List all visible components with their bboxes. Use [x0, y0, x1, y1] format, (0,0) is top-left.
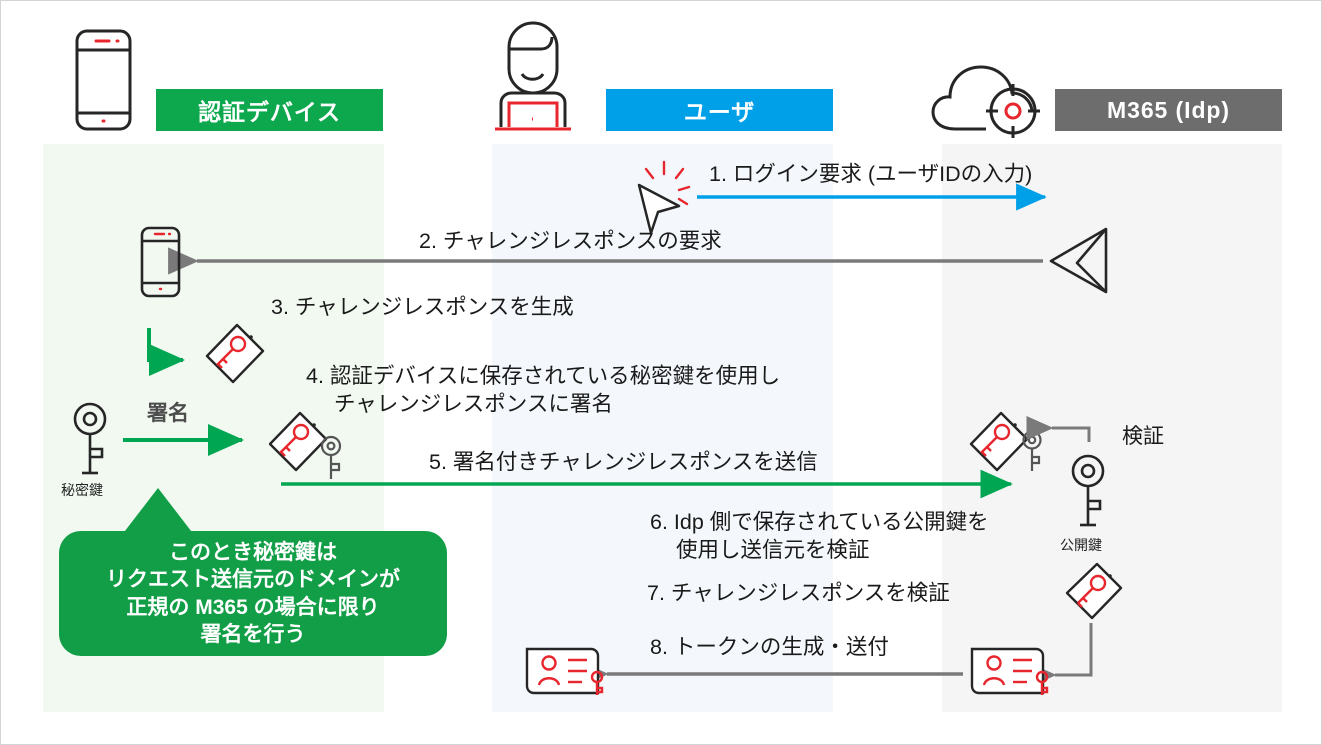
step-8-label: 8. トークンの生成・送付	[650, 633, 889, 661]
step-7-label: 7. チャレンジレスポンスを検証	[647, 579, 950, 607]
lane-badge-user: ユーザ	[606, 89, 833, 131]
lane-badge-idp: M365 (Idp)	[1055, 89, 1282, 131]
smartphone-icon-header	[77, 31, 130, 129]
step-4-label-line1: 4. 認証デバイスに保存されている秘密鍵を使用し	[306, 362, 780, 390]
diagram-canvas: 認証デバイス ユーザ M365 (Idp)	[0, 0, 1322, 745]
callout-line-1: このとき秘密鍵は	[106, 539, 400, 566]
step-5-label: 5. 署名付きチャレンジレスポンスを送信	[429, 448, 818, 476]
callout-line-4: 署名を行う	[106, 621, 400, 648]
callout-line-3: 正規の M365 の場合に限り	[106, 594, 400, 621]
step-6-label-line2: 使用し送信元を検証	[676, 536, 870, 564]
smartphone-icon-header-accents	[96, 41, 118, 121]
callout-box: このとき秘密鍵は リクエスト送信元のドメインが 正規の M365 の場合に限り …	[59, 531, 447, 656]
step-1-label: 1. ログイン要求 (ユーザIDの入力)	[709, 160, 1032, 188]
verify-label-top: 検証	[1122, 423, 1164, 451]
sign-label: 署名	[147, 400, 189, 428]
target-center-icon	[1006, 104, 1020, 118]
cloud-target-icon-header	[933, 67, 1040, 138]
step-2-label: 2. チャレンジレスポンスの要求	[419, 227, 722, 255]
laptop-icon-screen	[495, 103, 571, 129]
step-6-label-line1: 6. Idp 側で保存されている公開鍵を	[650, 508, 989, 536]
step-3-label: 3. チャレンジレスポンスを生成	[271, 293, 574, 321]
step-4-label-line2: チャレンジレスポンスに署名	[334, 390, 613, 418]
person-laptop-icon-header	[501, 23, 565, 127]
callout-line-2: リクエスト送信元のドメインが	[106, 566, 400, 593]
private-key-label: 秘密鍵	[61, 481, 103, 499]
public-key-label: 公開鍵	[1060, 536, 1102, 554]
lane-badge-device: 認証デバイス	[156, 89, 383, 131]
lane-background-idp	[942, 144, 1282, 712]
